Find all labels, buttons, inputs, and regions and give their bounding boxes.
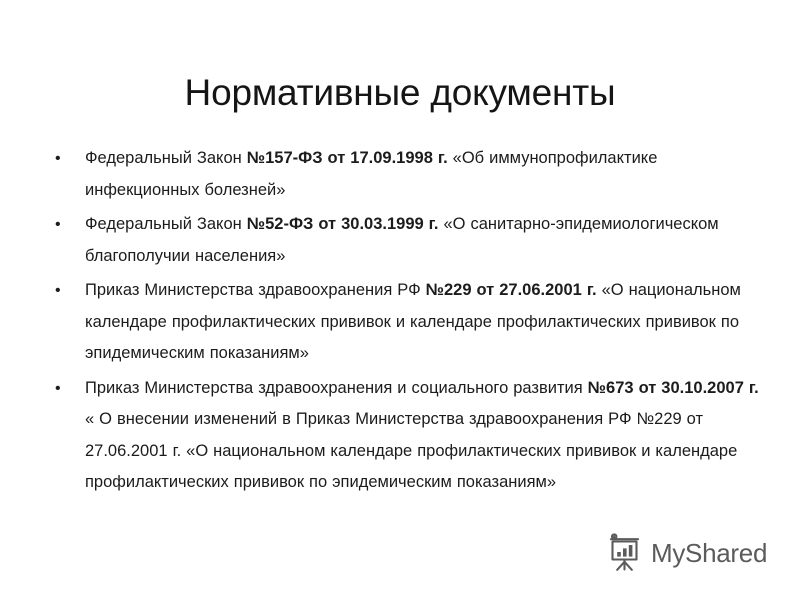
myshared-label: MyShared — [651, 538, 767, 568]
myshared-watermark: MyShared — [606, 533, 767, 573]
slide-canvas: Нормативные документы • Федеральный Зако… — [0, 0, 800, 600]
bullet-marker-icon: • — [55, 209, 67, 241]
bullet-marker-icon: • — [55, 373, 67, 405]
page-title: Нормативные документы — [0, 71, 800, 115]
list-item-text: Приказ Министерства здравоохранения РФ №… — [85, 275, 772, 370]
list-item-text: Федеральный Закон №157-ФЗ от 17.09.1998 … — [85, 143, 772, 206]
list-item-text: Федеральный Закон №52-ФЗ от 30.03.1999 г… — [85, 209, 772, 272]
bullet-marker-icon: • — [55, 275, 67, 307]
list-item: • Приказ Министерства здравоохранения РФ… — [46, 275, 772, 370]
document-bullet-list: • Федеральный Закон №157-ФЗ от 17.09.199… — [46, 143, 772, 499]
flipchart-bar-chart-icon — [606, 533, 644, 573]
list-item: • Федеральный Закон №157-ФЗ от 17.09.199… — [46, 143, 772, 206]
list-item: • Федеральный Закон №52-ФЗ от 30.03.1999… — [46, 209, 772, 272]
list-item: • Приказ Министерства здравоохранения и … — [46, 373, 772, 499]
bullet-marker-icon: • — [55, 143, 67, 175]
list-item-text: Приказ Министерства здравоохранения и со… — [85, 373, 772, 499]
